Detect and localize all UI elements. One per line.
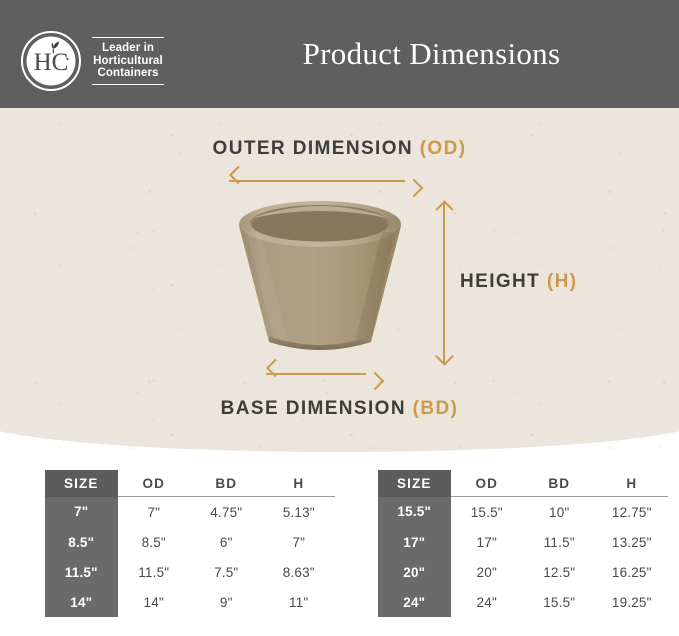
cell-od: 15.5" — [451, 497, 524, 528]
cell-size: 17" — [378, 527, 451, 557]
cell-bd: 11.5" — [523, 527, 596, 557]
table-row: 7" 7" 4.75" 5.13" — [45, 497, 335, 528]
table-row: 17" 17" 11.5" 13.25" — [378, 527, 668, 557]
dimension-diagram: OUTER DIMENSION (OD) — [0, 108, 679, 454]
column-header-od: OD — [451, 470, 524, 497]
cell-bd: 6" — [190, 527, 263, 557]
height-label: HEIGHT (H) — [460, 271, 577, 293]
size-table-left: SIZE OD BD H 7" 7" 4.75" 5.13" 8.5" 8.5"… — [45, 470, 335, 617]
table-row: 11.5" 11.5" 7.5" 8.63" — [45, 557, 335, 587]
cell-bd: 9" — [190, 587, 263, 617]
cell-h: 11" — [263, 587, 336, 617]
svg-text:HC: HC — [34, 49, 69, 76]
cell-size: 20" — [378, 557, 451, 587]
arrow-shaft — [443, 203, 445, 363]
column-header-size: SIZE — [378, 470, 451, 497]
cell-od: 8.5" — [118, 527, 191, 557]
cell-size: 15.5" — [378, 497, 451, 528]
planter-pot-illustration — [222, 196, 418, 381]
cell-size: 7" — [45, 497, 118, 528]
table-header-row: SIZE OD BD H — [378, 470, 668, 497]
table-row: 15.5" 15.5" 10" 12.75" — [378, 497, 668, 528]
table-header-row: SIZE OD BD H — [45, 470, 335, 497]
table-row: 14" 14" 9" 11" — [45, 587, 335, 617]
arrow-shaft — [229, 180, 405, 182]
tagline-line-3: Containers — [92, 67, 164, 80]
outer-dimension-text: OUTER DIMENSION — [213, 138, 420, 159]
hc-circle-logo-icon: HC — [20, 30, 82, 92]
table-row: 8.5" 8.5" 6" 7" — [45, 527, 335, 557]
arrow-head-down — [435, 347, 453, 365]
column-header-bd: BD — [190, 470, 263, 497]
base-dimension-arrow-icon — [266, 366, 366, 382]
outer-dimension-arrow-icon — [229, 173, 405, 189]
outer-dimension-label: OUTER DIMENSION (OD) — [0, 138, 679, 160]
column-header-size: SIZE — [45, 470, 118, 497]
height-abbr: (H) — [547, 271, 578, 292]
arrow-shaft — [266, 373, 366, 375]
column-header-od: OD — [118, 470, 191, 497]
cell-od: 17" — [451, 527, 524, 557]
column-header-bd: BD — [523, 470, 596, 497]
cell-od: 24" — [451, 587, 524, 617]
cell-size: 8.5" — [45, 527, 118, 557]
outer-dimension-abbr: (OD) — [420, 138, 467, 159]
cell-od: 14" — [118, 587, 191, 617]
height-text: HEIGHT — [460, 271, 547, 292]
brand-logo: HC Leader in Horticultural Containers — [20, 21, 190, 101]
cell-size: 11.5" — [45, 557, 118, 587]
cell-h: 5.13" — [263, 497, 336, 528]
cell-bd: 12.5" — [523, 557, 596, 587]
cell-h: 12.75" — [596, 497, 669, 528]
base-dimension-abbr: (BD) — [413, 398, 459, 419]
tagline-rule-bottom — [92, 84, 164, 85]
cell-bd: 15.5" — [523, 587, 596, 617]
page-title: Product Dimensions — [200, 0, 679, 108]
cell-h: 7" — [263, 527, 336, 557]
cell-od: 7" — [118, 497, 191, 528]
cell-h: 19.25" — [596, 587, 669, 617]
size-table-right: SIZE OD BD H 15.5" 15.5" 10" 12.75" 17" … — [378, 470, 668, 617]
cell-h: 13.25" — [596, 527, 669, 557]
tagline-line-2: Horticultural — [92, 55, 164, 68]
column-header-h: H — [596, 470, 669, 497]
table-row: 20" 20" 12.5" 16.25" — [378, 557, 668, 587]
cell-bd: 10" — [523, 497, 596, 528]
brand-tagline: Leader in Horticultural Containers — [92, 34, 164, 89]
cell-size: 14" — [45, 587, 118, 617]
column-header-h: H — [263, 470, 336, 497]
height-arrow-icon — [436, 203, 452, 363]
cell-od: 11.5" — [118, 557, 191, 587]
base-dimension-text: BASE DIMENSION — [221, 398, 413, 419]
cell-bd: 4.75" — [190, 497, 263, 528]
cell-size: 24" — [378, 587, 451, 617]
cell-h: 16.25" — [596, 557, 669, 587]
tagline-line-1: Leader in — [92, 42, 164, 55]
base-dimension-label: BASE DIMENSION (BD) — [0, 398, 679, 420]
cell-od: 20" — [451, 557, 524, 587]
size-tables: SIZE OD BD H 7" 7" 4.75" 5.13" 8.5" 8.5"… — [0, 470, 679, 636]
cell-h: 8.63" — [263, 557, 336, 587]
arrow-head-up — [435, 200, 453, 218]
table-row: 24" 24" 15.5" 19.25" — [378, 587, 668, 617]
cell-bd: 7.5" — [190, 557, 263, 587]
tagline-rule-top — [92, 37, 164, 38]
page-header: HC Leader in Horticultural Containers Pr… — [0, 0, 679, 108]
